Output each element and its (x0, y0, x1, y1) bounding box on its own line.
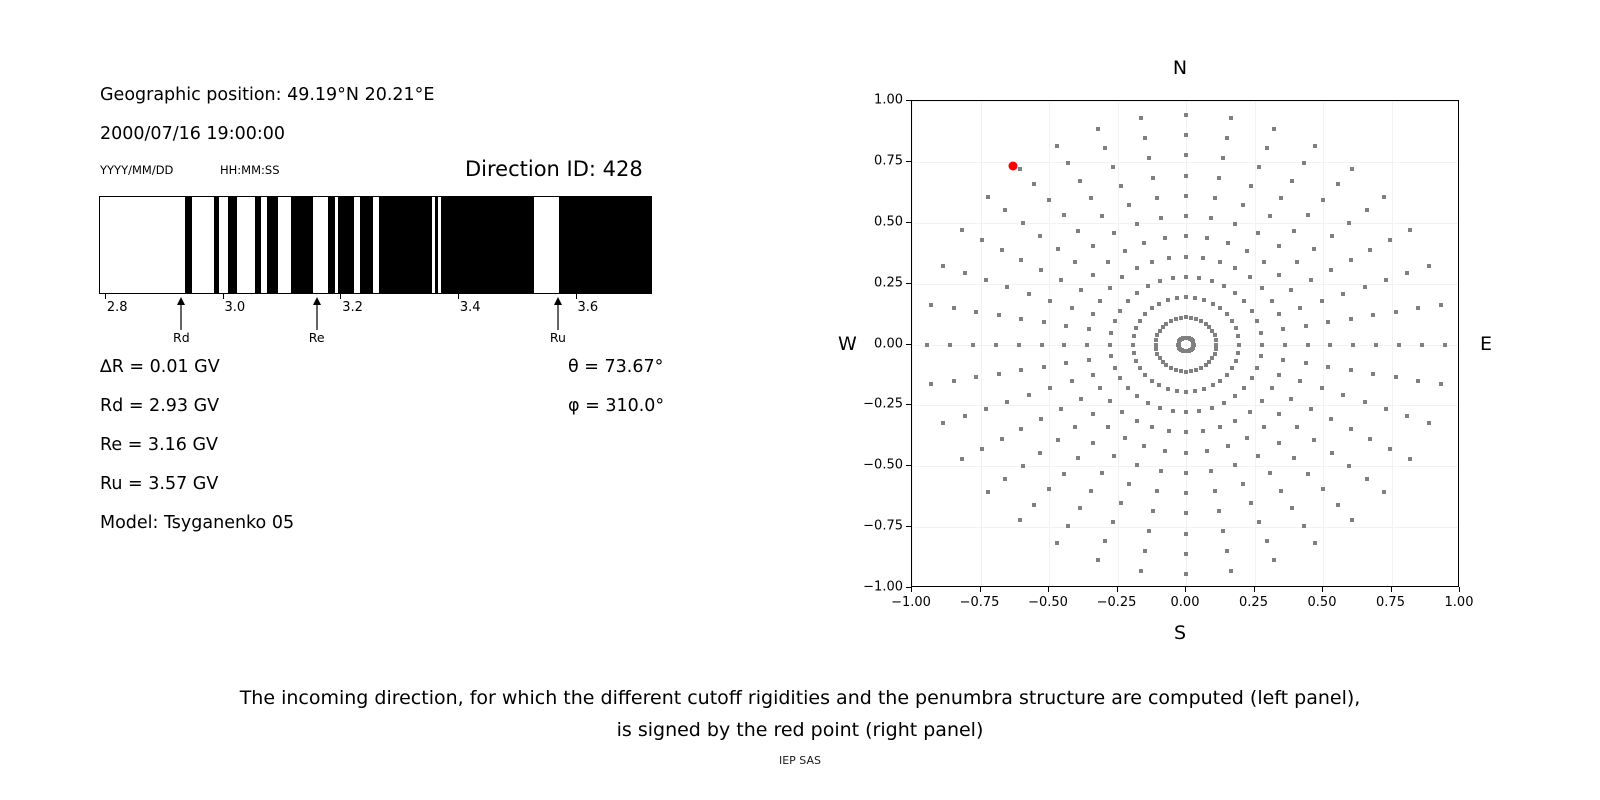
direction-sample-dot (1038, 234, 1042, 238)
direction-sample-dot (925, 343, 929, 347)
direction-sample-dot (1405, 271, 1409, 275)
direction-sample-dot (1147, 529, 1151, 533)
direction-sample-dot (1302, 161, 1306, 165)
direction-sample-dot (1135, 222, 1139, 226)
axis-tick-mark (105, 294, 106, 299)
direction-sample-dot (1073, 425, 1077, 429)
direction-sample-dot (1255, 366, 1259, 370)
direction-sample-dot (1349, 368, 1353, 372)
direction-sample-dot (1000, 437, 1004, 441)
direction-sample-dot (1268, 214, 1272, 218)
direction-sample-dot (1302, 524, 1306, 528)
direction-sample-dot (1151, 509, 1155, 513)
penumbra-axis: 2.83.03.23.43.6RdReRu (99, 294, 652, 340)
direction-sample-dot (1197, 276, 1201, 280)
direction-sample-dot (1184, 410, 1188, 414)
x-tick-mark (1322, 587, 1323, 592)
direction-sample-dot (984, 407, 988, 411)
direction-sample-dot (1184, 430, 1188, 434)
axis-tick-label: 3.0 (225, 300, 246, 315)
direction-sample-dot (1159, 216, 1163, 220)
direction-sample-dot (1394, 310, 1398, 314)
direction-sample-dot (1150, 260, 1154, 264)
direction-sample-dot (1257, 165, 1261, 169)
direction-sample-dot (1131, 343, 1135, 347)
y-tick-label: 0.50 (849, 214, 903, 229)
direction-sample-dot (1062, 472, 1066, 476)
direction-sample-dot (1234, 359, 1238, 363)
x-tick-label: −1.00 (891, 595, 931, 610)
direction-sample-dot (1135, 463, 1139, 467)
direction-sample-dot (1005, 285, 1009, 289)
direction-sample-dot (1019, 317, 1023, 321)
gridline-vertical (1392, 101, 1393, 586)
caption-line-1: The incoming direction, for which the di… (0, 682, 1600, 714)
direction-sample-dot (929, 303, 933, 307)
direction-sample-dot (1201, 429, 1205, 433)
direction-sample-dot (1210, 356, 1214, 360)
direction-sample-dot (1118, 309, 1122, 313)
y-tick-mark (906, 526, 911, 527)
direction-sample-dot (1135, 291, 1139, 295)
direction-sample-dot (1225, 312, 1229, 316)
direction-sample-dot (1304, 361, 1308, 365)
direction-sample-dot (1330, 234, 1334, 238)
penumbra-forbidden-band (328, 197, 336, 293)
direction-sample-dot (1260, 286, 1264, 290)
direction-sample-dot (1245, 436, 1249, 440)
direction-sample-dot (1184, 491, 1188, 495)
direction-sample-dot (1151, 176, 1155, 180)
direction-sample-dot (1164, 322, 1168, 326)
x-tick-mark (911, 587, 912, 592)
direction-sample-dot (994, 343, 998, 347)
direction-sample-dot (1209, 216, 1213, 220)
direction-sample-dot (1368, 437, 1372, 441)
direction-sample-dot (1233, 463, 1237, 467)
direction-sample-dot (1193, 389, 1197, 393)
direction-sample-dot (1295, 425, 1299, 429)
y-tick-label: −0.75 (849, 519, 903, 534)
direction-sample-dot (1268, 471, 1272, 475)
x-tick-mark (1048, 587, 1049, 592)
direction-sample-dot (1184, 113, 1188, 117)
direction-sample-dot (986, 195, 990, 199)
direction-sample-dot (1091, 244, 1095, 248)
gridline-horizontal (912, 101, 1458, 102)
penumbra-forbidden-band (435, 197, 438, 293)
direction-sample-dot (1132, 334, 1136, 338)
direction-sample-dot (1199, 319, 1203, 323)
direction-sample-dot (948, 343, 952, 347)
direction-sample-dot (1174, 317, 1178, 321)
direction-sample-dot (1382, 195, 1386, 199)
direction-sample-dot (1306, 343, 1310, 347)
direction-sample-dot (1221, 529, 1225, 533)
direction-sample-dot (1143, 136, 1147, 140)
direction-sample-dot (1062, 343, 1066, 347)
direction-sample-dot (1427, 264, 1431, 268)
direction-sample-dot (1106, 425, 1110, 429)
direction-sample-dot (1076, 229, 1080, 233)
direction-sample-dot (1158, 279, 1162, 283)
direction-sample-dot (1134, 326, 1138, 330)
figure-caption: The incoming direction, for which the di… (0, 682, 1600, 746)
y-tick-label: −0.50 (849, 458, 903, 473)
y-tick-label: 0.75 (849, 153, 903, 168)
direction-sample-dot (1248, 275, 1252, 279)
direction-sample-dot (1120, 410, 1124, 414)
direction-sample-dot (1042, 320, 1046, 324)
model-value: Model: Tsyganenko 05 (100, 513, 294, 533)
direction-sample-dot (1155, 196, 1159, 200)
direction-sample-dot (1112, 454, 1116, 458)
direction-sample-dot (1184, 390, 1188, 394)
direction-sample-dot (1213, 489, 1217, 493)
direction-sample-dot (1109, 331, 1113, 335)
direction-sample-dot (1135, 266, 1139, 270)
direction-sample-dot (1098, 386, 1102, 390)
rigidity-marker-arrow-ru (550, 296, 566, 330)
direction-sample-dot (1184, 194, 1188, 198)
direction-sample-dot (1292, 229, 1296, 233)
y-tick-mark (906, 344, 911, 345)
y-tick-label: 1.00 (849, 93, 903, 108)
gridline-horizontal (912, 284, 1458, 285)
direction-sample-dot (1066, 524, 1070, 528)
direction-sample-dot (1230, 319, 1234, 323)
direction-sample-dot (952, 306, 956, 310)
direction-sample-dot (1184, 552, 1188, 556)
direction-sample-dot (1184, 255, 1188, 259)
direction-sample-dot (1027, 393, 1031, 397)
direction-sample-dot (1225, 549, 1229, 553)
penumbra-chart (99, 196, 652, 294)
direction-sample-dot (1265, 146, 1269, 150)
direction-sample-dot (974, 375, 978, 379)
direction-sample-dot (1113, 319, 1117, 323)
direction-sample-dot (1184, 295, 1188, 299)
direction-sample-dot (1328, 343, 1332, 347)
axis-tick-label: 3.2 (342, 300, 363, 315)
direction-sample-dot (1059, 278, 1063, 282)
direction-sample-dot (1218, 260, 1222, 264)
direction-sample-dot (1017, 343, 1021, 347)
direction-sample-dot (1038, 451, 1042, 455)
direction-sample-dot (1388, 447, 1392, 451)
gridline-vertical (981, 101, 982, 586)
direction-sample-dot (1250, 376, 1254, 380)
direction-sample-dot (1175, 296, 1179, 300)
direction-sample-dot (1374, 343, 1378, 347)
direction-sample-dot (1194, 317, 1198, 321)
phi-value: φ = 310.0° (568, 396, 664, 416)
direction-sample-dot (1209, 469, 1213, 473)
direction-sample-dot (1143, 312, 1147, 316)
direction-sample-dot (1350, 167, 1354, 171)
direction-sample-dot (1146, 284, 1150, 288)
direction-sample-dot (1066, 161, 1070, 165)
direction-sample-dot (1256, 454, 1260, 458)
penumbra-forbidden-band (338, 197, 354, 293)
direction-sample-dot (1091, 273, 1095, 277)
direction-sample-dot (1064, 324, 1068, 328)
direction-sample-dot (1184, 370, 1188, 374)
penumbra-forbidden-band (360, 197, 373, 293)
direction-sample-dot (1277, 273, 1281, 277)
x-tick-label: 1.00 (1445, 595, 1474, 610)
direction-sample-dot (1260, 399, 1264, 403)
direction-sample-dot (1230, 366, 1234, 370)
x-tick-label: 0.00 (1171, 595, 1200, 610)
direction-sample-dot (1272, 127, 1276, 131)
direction-sample-dot (1197, 409, 1201, 413)
direction-sample-dot (1365, 477, 1369, 481)
direction-sample-dot (1055, 541, 1059, 545)
y-tick-label: 0.00 (849, 336, 903, 351)
direction-sample-dot (1111, 520, 1115, 524)
direction-sample-dot (1349, 258, 1353, 262)
direction-sample-dot (1184, 451, 1188, 455)
direction-sample-dot (952, 379, 956, 383)
direction-sample-dot (1277, 373, 1281, 377)
direction-scatter-plot (911, 100, 1459, 587)
direction-sample-dot (997, 313, 1001, 317)
y-tick-mark (906, 100, 911, 101)
direction-sample-dot (1056, 247, 1060, 251)
direction-sample-dot (1226, 444, 1230, 448)
direction-sample-dot (1214, 338, 1218, 342)
gridline-vertical (912, 101, 913, 586)
direction-sample-dot (1341, 292, 1345, 296)
direction-sample-dot (1218, 425, 1222, 429)
rigidity-marker-label-ru: Ru (550, 330, 566, 345)
direction-sample-dot (1210, 279, 1214, 283)
selected-direction-point (1008, 161, 1017, 170)
direction-sample-dot (1113, 366, 1117, 370)
direction-sample-dot (1142, 241, 1146, 245)
direction-sample-dot (1290, 506, 1294, 510)
gridline-horizontal (912, 527, 1458, 528)
direction-sample-dot (1371, 372, 1375, 376)
direction-sample-dot (1184, 532, 1188, 536)
ru-value: Ru = 3.57 GV (100, 474, 218, 494)
date-format-hint: YYYY/MM/DD (100, 163, 173, 177)
direction-sample-dot (1019, 368, 1023, 372)
direction-sample-dot (1313, 144, 1317, 148)
compass-label-east: E (1480, 333, 1492, 355)
direction-sample-dot (1193, 296, 1197, 300)
direction-sample-dot (1443, 343, 1447, 347)
direction-sample-dot (1225, 373, 1229, 377)
direction-sample-dot (1167, 429, 1171, 433)
direction-sample-dot (1222, 284, 1226, 288)
direction-sample-dot (1184, 174, 1188, 178)
direction-sample-dot (1217, 176, 1221, 180)
direction-sample-dot (1237, 343, 1241, 347)
gridline-horizontal (912, 162, 1458, 163)
direction-sample-dot (1157, 302, 1161, 306)
gridline-vertical (1118, 101, 1119, 586)
direction-sample-dot (1142, 444, 1146, 448)
direction-sample-dot (1229, 569, 1233, 573)
direction-sample-dot (1416, 379, 1420, 383)
direction-sample-dot (1003, 477, 1007, 481)
direction-sample-dot (1281, 358, 1285, 362)
direction-sample-dot (1166, 387, 1170, 391)
direction-sample-dot (1021, 464, 1025, 468)
direction-sample-dot (986, 490, 990, 494)
direction-sample-dot (1150, 379, 1154, 383)
direction-sample-dot (980, 238, 984, 242)
direction-sample-dot (1100, 214, 1104, 218)
direction-sample-dot (1420, 343, 1424, 347)
direction-sample-dot (1111, 165, 1115, 169)
direction-sample-dot (1048, 386, 1052, 390)
direction-sample-dot (1078, 506, 1082, 510)
direction-sample-dot (1233, 291, 1237, 295)
direction-sample-dot (1039, 268, 1043, 272)
penumbra-forbidden-band (185, 197, 192, 293)
direction-sample-dot (1163, 449, 1167, 453)
direction-sample-dot (1171, 409, 1175, 413)
direction-sample-dot (1139, 569, 1143, 573)
direction-sample-dot (1167, 256, 1171, 260)
direction-sample-dot (1109, 354, 1113, 358)
direction-sample-dot (1184, 511, 1188, 515)
direction-sample-dot (1277, 312, 1281, 316)
rigidity-marker-arrow-rd (173, 296, 189, 330)
direction-sample-dot (1019, 258, 1023, 262)
direction-sample-dot (1270, 386, 1274, 390)
direction-sample-dot (1091, 373, 1095, 377)
y-tick-mark (906, 465, 911, 466)
direction-sample-dot (1184, 572, 1188, 576)
penumbra-forbidden-band (291, 197, 313, 293)
y-tick-mark (906, 222, 911, 223)
direction-sample-dot (1174, 368, 1178, 372)
direction-sample-dot (1119, 184, 1123, 188)
re-value: Re = 3.16 GV (100, 435, 218, 455)
direction-sample-dot (1347, 221, 1351, 225)
direction-sample-dot (1351, 343, 1355, 347)
direction-sample-dot (1003, 208, 1007, 212)
y-tick-mark (906, 404, 911, 405)
direction-sample-dot (1056, 438, 1060, 442)
direction-sample-dot (1257, 520, 1261, 524)
direction-sample-dot (1089, 196, 1093, 200)
direction-sample-dot (1382, 490, 1386, 494)
direction-sample-dot (1205, 449, 1209, 453)
direction-sample-dot (1032, 503, 1036, 507)
direction-sample-dot (1047, 198, 1051, 202)
direction-sample-dot (1309, 278, 1313, 282)
direction-sample-dot (1184, 153, 1188, 157)
axis-tick-label: 3.4 (460, 300, 481, 315)
direction-sample-dot (1262, 260, 1266, 264)
direction-sample-dot (1059, 407, 1063, 411)
direction-sample-dot (941, 264, 945, 268)
direction-sample-dot (1249, 184, 1253, 188)
gridline-horizontal (912, 223, 1458, 224)
direction-sample-dot (1202, 387, 1206, 391)
direction-sample-dot (1277, 441, 1281, 445)
x-tick-mark (1459, 587, 1460, 592)
direction-sample-dot (1079, 288, 1083, 292)
direction-sample-dot (963, 414, 967, 418)
y-tick-label: −0.25 (849, 397, 903, 412)
direction-sample-dot (1330, 451, 1334, 455)
direction-sample-dot (1070, 379, 1074, 383)
penumbra-forbidden-band (255, 197, 261, 293)
direction-sample-dot (1108, 286, 1112, 290)
direction-sample-dot (1096, 127, 1100, 131)
direction-sample-dot (1397, 343, 1401, 347)
direction-sample-dot (1298, 379, 1302, 383)
direction-sample-dot (1135, 394, 1139, 398)
direction-sample-dot (1213, 333, 1217, 337)
direction-sample-dot (984, 278, 988, 282)
direction-sample-dot (1048, 299, 1052, 303)
axis-tick-mark (458, 294, 459, 299)
direction-id-text: Direction ID: 428 (465, 157, 643, 181)
direction-sample-dot (1154, 338, 1158, 342)
direction-sample-dot (1384, 278, 1388, 282)
direction-sample-dot (1313, 541, 1317, 545)
x-tick-label: 0.50 (1308, 595, 1337, 610)
direction-sample-dot (1218, 379, 1222, 383)
direction-sample-dot (1229, 116, 1233, 120)
direction-sample-dot (1248, 410, 1252, 414)
y-tick-mark (906, 161, 911, 162)
direction-sample-dot (1306, 213, 1310, 217)
penumbra-forbidden-band (559, 197, 652, 293)
direction-sample-dot (929, 382, 933, 386)
direction-sample-dot (1210, 406, 1214, 410)
direction-sample-dot (1106, 260, 1110, 264)
direction-sample-dot (1201, 256, 1205, 260)
direction-sample-dot (1126, 299, 1130, 303)
direction-sample-dot (960, 228, 964, 232)
gridline-vertical (1255, 101, 1256, 586)
direction-sample-dot (1368, 248, 1372, 252)
datetime-text: 2000/07/16 19:00:00 (100, 124, 285, 144)
direction-sample-dot (1226, 241, 1230, 245)
direction-sample-dot (1321, 487, 1325, 491)
direction-sample-dot (1298, 306, 1302, 310)
direction-sample-dot (1259, 331, 1263, 335)
direction-sample-dot (1073, 260, 1077, 264)
direction-sample-dot (1245, 249, 1249, 253)
direction-sample-dot (1123, 249, 1127, 253)
direction-sample-dot (1064, 361, 1068, 365)
direction-sample-dot (1091, 441, 1095, 445)
direction-sample-dot (1256, 231, 1260, 235)
direction-sample-dot (1079, 397, 1083, 401)
direction-sample-dot (1171, 276, 1175, 280)
direction-sample-dot (1349, 317, 1353, 321)
direction-sample-dot (1018, 518, 1022, 522)
direction-sample-dot (1091, 312, 1095, 316)
direction-sample-dot (1175, 389, 1179, 393)
compass-label-south: S (1174, 622, 1186, 644)
direction-sample-dot (1388, 238, 1392, 242)
direction-sample-dot (1127, 203, 1131, 207)
direction-sample-dot (1138, 366, 1142, 370)
gridline-horizontal (912, 466, 1458, 467)
x-tick-mark (1391, 587, 1392, 592)
direction-sample-dot (1236, 334, 1240, 338)
